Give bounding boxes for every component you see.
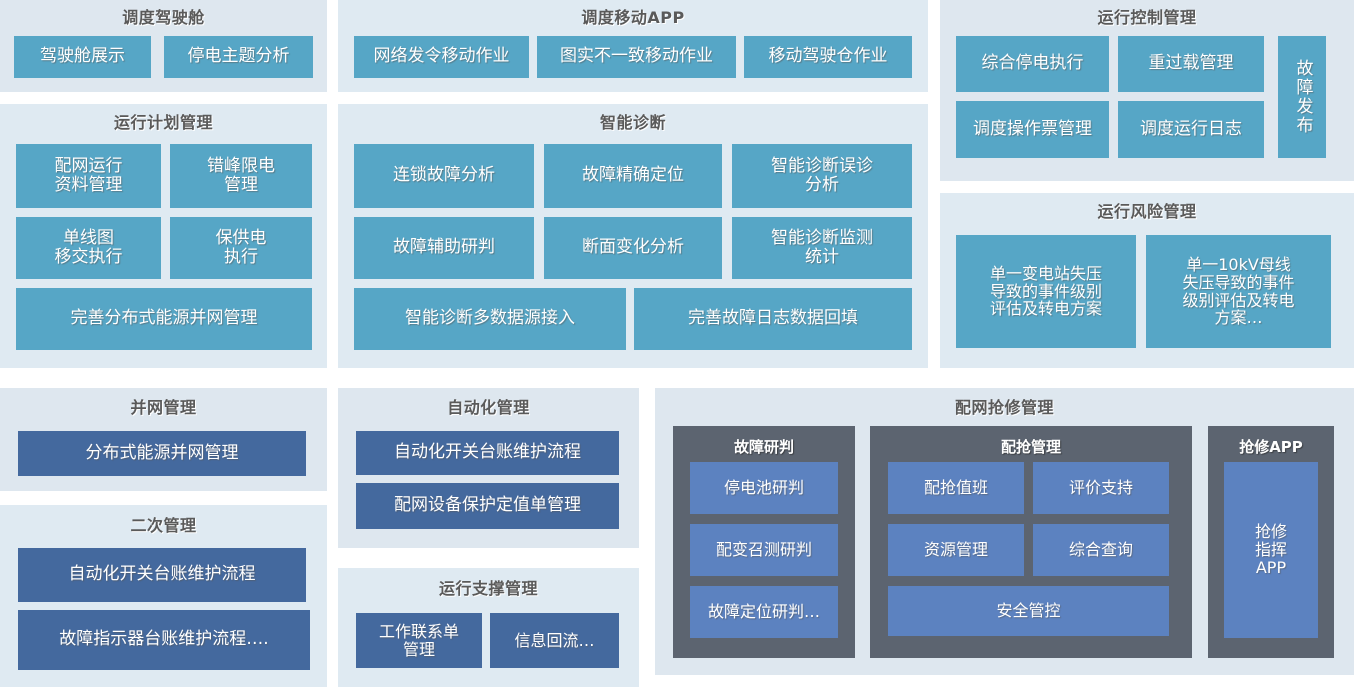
tile-dispatch-operation-log[interactable]: 调度运行日志 — [1118, 101, 1264, 158]
tile-cascading-fault-analysis[interactable]: 连锁故障分析 — [354, 144, 534, 208]
subgroup-title-repair-dispatch: 配抢管理 — [870, 436, 1192, 457]
tile-peak-shifting-management[interactable]: 错峰限电 管理 — [170, 144, 312, 208]
tile-outage-topic-analysis[interactable]: 停电主题分析 — [164, 36, 313, 78]
panel-intelligent-diagnosis: 智能诊断 连锁故障分析 故障精确定位 智能诊断误诊 分析 故障辅助研判 断面变化… — [338, 104, 928, 368]
subgroup-repair-app: 抢修APP 抢修 指挥 APP — [1208, 426, 1334, 658]
panel-operation-risk: 运行风险管理 单一变电站失压 导致的事件级别 评估及转电方案 单一10kV母线 … — [940, 193, 1354, 368]
panel-operation-support: 运行支撑管理 工作联系单 管理 信息回流… — [338, 568, 639, 687]
panel-title-secondary-management: 二次管理 — [0, 517, 327, 535]
panel-distribution-repair: 配网抢修管理 故障研判 停电池研判 配变召测研判 故障定位研判… 配抢管理 配抢… — [655, 388, 1354, 675]
panel-automation-management: 自动化管理 自动化开关台账维护流程 配网设备保护定值单管理 — [338, 388, 639, 548]
panel-title-operation-control: 运行控制管理 — [940, 9, 1354, 27]
tile-misdiagnosis-analysis[interactable]: 智能诊断误诊 分析 — [732, 144, 912, 208]
tile-repair-duty[interactable]: 配抢值班 — [888, 462, 1024, 514]
panel-secondary-management: 二次管理 自动化开关台账维护流程 故障指示器台账维护流程…. — [0, 505, 327, 687]
tile-network-order-mobile-work[interactable]: 网络发令移动作业 — [354, 36, 529, 78]
panel-title-operation-support: 运行支撑管理 — [338, 580, 639, 598]
panel-title-dispatch-mobile-app: 调度移动APP — [338, 9, 928, 27]
tile-guaranteed-supply-execution[interactable]: 保供电 执行 — [170, 217, 312, 279]
tile-fault-location-judgement[interactable]: 故障定位研判… — [690, 586, 838, 638]
panel-dispatch-cockpit: 调度驾驶舱 驾驶舱展示 停电主题分析 — [0, 0, 327, 92]
tile-dispatch-operation-ticket[interactable]: 调度操作票管理 — [956, 101, 1109, 158]
tile-evaluation-support[interactable]: 评价支持 — [1033, 462, 1169, 514]
tile-safety-control[interactable]: 安全管控 — [888, 586, 1169, 636]
tile-distributed-energy-grid-management[interactable]: 分布式能源并网管理 — [18, 431, 306, 476]
subgroup-repair-dispatch: 配抢管理 配抢值班 评价支持 资源管理 综合查询 安全管控 — [870, 426, 1192, 658]
subgroup-fault-judgement: 故障研判 停电池研判 配变召测研判 故障定位研判… — [673, 426, 855, 658]
panel-title-dispatch-cockpit: 调度驾驶舱 — [0, 9, 327, 27]
tile-dn-operation-data-management[interactable]: 配网运行 资料管理 — [16, 144, 161, 208]
tile-cockpit-display[interactable]: 驾驶舱展示 — [14, 36, 151, 78]
tile-automation-switch-ledger-flow-2[interactable]: 自动化开关台账维护流程 — [18, 548, 306, 602]
panel-title-distribution-repair: 配网抢修管理 — [655, 399, 1354, 417]
tile-automation-switch-ledger-flow[interactable]: 自动化开关台账维护流程 — [356, 431, 619, 475]
panel-operation-plan: 运行计划管理 配网运行 资料管理 错峰限电 管理 单线图 移交执行 保供电 执行… — [0, 104, 327, 368]
tile-graph-mismatch-mobile-work[interactable]: 图实不一致移动作业 — [537, 36, 736, 78]
tile-information-return[interactable]: 信息回流… — [490, 613, 619, 668]
tile-overload-management[interactable]: 重过载管理 — [1118, 36, 1264, 92]
tile-repair-command-app[interactable]: 抢修 指挥 APP — [1224, 462, 1318, 638]
tile-10kv-busbar-voltage-loss-plan[interactable]: 单一10kV母线 失压导致的事件 级别评估及转电 方案… — [1146, 235, 1331, 348]
tile-resource-management[interactable]: 资源管理 — [888, 524, 1024, 576]
tile-improve-fault-log-backfill[interactable]: 完善故障日志数据回填 — [634, 288, 912, 350]
tile-mobile-cockpit-work[interactable]: 移动驾驶仓作业 — [744, 36, 912, 78]
tile-improve-distributed-energy-grid[interactable]: 完善分布式能源并网管理 — [16, 288, 312, 350]
tile-integrated-outage-execution[interactable]: 综合停电执行 — [956, 36, 1109, 92]
panel-operation-control: 运行控制管理 综合停电执行 重过载管理 故障发布 调度操作票管理 调度运行日志 — [940, 0, 1354, 181]
subgroup-title-repair-app: 抢修APP — [1208, 436, 1334, 457]
tile-work-contact-sheet-management[interactable]: 工作联系单 管理 — [356, 613, 482, 668]
tile-precise-fault-location[interactable]: 故障精确定位 — [544, 144, 722, 208]
tile-diagnosis-monitoring-statistics[interactable]: 智能诊断监测 统计 — [732, 217, 912, 279]
panel-title-operation-plan: 运行计划管理 — [0, 114, 327, 132]
subgroup-title-fault-judgement: 故障研判 — [673, 436, 855, 457]
tile-transformer-polling-judgement[interactable]: 配变召测研判 — [690, 524, 838, 576]
panel-title-operation-risk: 运行风险管理 — [940, 203, 1354, 221]
tile-protection-setting-sheet-management[interactable]: 配网设备保护定值单管理 — [356, 483, 619, 529]
tile-multi-source-data-access[interactable]: 智能诊断多数据源接入 — [354, 288, 626, 350]
panel-title-automation-management: 自动化管理 — [338, 399, 639, 417]
tile-fault-publishing[interactable]: 故障发布 — [1278, 36, 1326, 158]
panel-grid-connection: 并网管理 分布式能源并网管理 — [0, 388, 327, 491]
panel-dispatch-mobile-app: 调度移动APP 网络发令移动作业 图实不一致移动作业 移动驾驶仓作业 — [338, 0, 928, 92]
tile-fault-indicator-ledger-flow[interactable]: 故障指示器台账维护流程…. — [18, 610, 310, 670]
tile-section-change-analysis[interactable]: 断面变化分析 — [544, 217, 722, 279]
tile-single-line-diagram-handover[interactable]: 单线图 移交执行 — [16, 217, 161, 279]
tile-outage-pool-judgement[interactable]: 停电池研判 — [690, 462, 838, 514]
tile-comprehensive-query[interactable]: 综合查询 — [1033, 524, 1169, 576]
panel-title-intelligent-diagnosis: 智能诊断 — [338, 114, 928, 132]
tile-fault-assisted-judgement[interactable]: 故障辅助研判 — [354, 217, 534, 279]
tile-substation-voltage-loss-plan[interactable]: 单一变电站失压 导致的事件级别 评估及转电方案 — [956, 235, 1136, 348]
panel-title-grid-connection: 并网管理 — [0, 399, 327, 417]
architecture-diagram: 调度驾驶舱 驾驶舱展示 停电主题分析 调度移动APP 网络发令移动作业 图实不一… — [0, 0, 1354, 687]
